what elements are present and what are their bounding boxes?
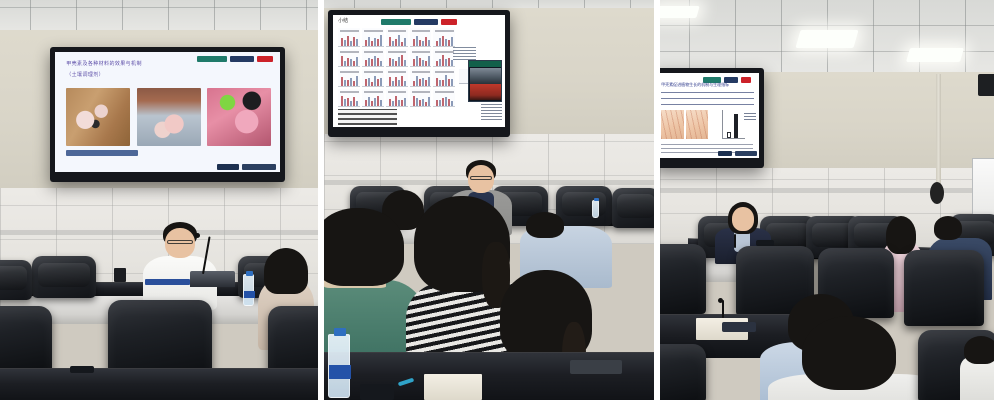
attendee-pink-hair (886, 216, 916, 254)
panel-right: 甲壳素促进植物生长的机制与生理指标 (660, 0, 994, 400)
slide-title-right: 甲壳素促进植物生长的机制与生理指标 (661, 81, 753, 90)
presenter-glasses (167, 240, 193, 244)
mini-bar-chart (338, 49, 360, 67)
display-screen: 甲壳素及各种材料的效果与机制 （土壤调理剂） (55, 52, 280, 172)
far-right-front-hair (964, 336, 994, 364)
mini-bar-chart (433, 89, 455, 107)
video-tile-1 (470, 68, 501, 83)
chair-front-right-4 (904, 250, 984, 326)
video-conference-window[interactable] (468, 60, 502, 103)
mini-bar-chart (362, 69, 384, 87)
slide-footer-strip-right (718, 151, 757, 156)
mini-bar-chart (386, 49, 408, 67)
slide-chip-footer-2 (242, 164, 276, 170)
slide-paragraph-text (481, 100, 502, 120)
slide-photo-1 (66, 88, 130, 146)
chair-front-center (108, 300, 212, 378)
person-attendee-far-right-front (960, 336, 994, 400)
ceiling-light-2 (906, 48, 964, 62)
chair-front-left (0, 306, 52, 372)
bottle-cap (334, 328, 346, 336)
histology-images (661, 110, 708, 139)
wall-display: 甲壳素及各种材料的效果与机制 （土壤调理剂） (50, 47, 285, 182)
presenter-head-right (732, 207, 754, 231)
ceiling-speaker (978, 74, 994, 96)
slide-logo-strip (197, 56, 273, 62)
attendee-navy-hair (934, 216, 962, 240)
mini-bar-chart (410, 49, 432, 67)
wall-display-middle: 小结 (328, 10, 510, 137)
display-screen-middle: 小结 (333, 15, 505, 127)
slide-body-text-right (661, 92, 754, 106)
slide-title: 甲壳素及各种材料的效果与机制 (66, 60, 142, 70)
attendee-right-hair (264, 248, 308, 294)
mini-bar-chart (386, 69, 408, 87)
ceiling-light-1 (795, 30, 858, 48)
whiteboard (972, 158, 994, 220)
video-tile-2 (470, 84, 501, 100)
slide-annotation-text (453, 46, 475, 59)
chair-back-left (32, 256, 96, 298)
bar-t1 (734, 114, 737, 138)
mini-bar-chart (338, 28, 360, 46)
slide-left-badge (66, 150, 138, 156)
chair-back-far-left (0, 260, 32, 300)
bar-ck (727, 132, 730, 139)
mini-bar-chart (433, 28, 455, 46)
slide-photo-3 (207, 88, 271, 146)
microphone-head (195, 233, 200, 238)
video-conference-titlebar (469, 61, 501, 67)
bottle-label (329, 365, 351, 379)
pen-cup (114, 268, 126, 282)
microphone-stem-front (722, 300, 724, 318)
bottle-cap (594, 198, 599, 201)
slide-photo-row (66, 88, 271, 146)
chair-row-5 (612, 188, 654, 228)
notebook (424, 374, 482, 400)
slide-chip-footer-2 (735, 151, 757, 156)
panel-middle: 小结 (324, 0, 654, 400)
water-bottle (243, 274, 254, 306)
mini-bar-chart (362, 28, 384, 46)
wall-speaker-dome (930, 182, 944, 204)
presenter-glasses-middle (470, 176, 492, 180)
slide-logo-strip-middle (381, 19, 457, 25)
mini-bar-chart (386, 28, 408, 46)
mini-bar-chart (410, 28, 432, 46)
chair-front-right (268, 306, 318, 376)
slide-footer-strip (217, 164, 276, 170)
slide-chip-footer-1 (718, 151, 732, 156)
mini-bar-chart (338, 89, 360, 107)
display-screen-right: 甲壳素促进植物生长的机制与生理指标 (660, 73, 759, 158)
blue-folder (145, 279, 190, 285)
foreground-water-bottle (328, 334, 350, 398)
slide-chip-navy (414, 19, 438, 25)
slide-chip-red (441, 19, 457, 25)
slide-photo-2 (137, 88, 201, 146)
slide-chip-footer-1 (217, 164, 239, 170)
slide-chip-red (257, 56, 273, 62)
ceiling-grid (0, 0, 318, 34)
slide-chip-navy (230, 56, 254, 62)
panel-left: 甲壳素及各种材料的效果与机制 （土壤调理剂） (0, 0, 318, 400)
slide-chart-grid (338, 28, 455, 106)
mini-bar-chart (410, 69, 432, 87)
smartphone-right (570, 360, 622, 374)
mini-bar-chart (338, 69, 360, 87)
bottle-label (244, 291, 255, 298)
slide-title-middle: 小结 (338, 17, 348, 24)
foreground-table (0, 368, 318, 400)
ceiling (0, 0, 318, 34)
attendee-lightblue-hair (526, 212, 564, 238)
white-front-hair (802, 316, 896, 390)
mini-bar-chart (362, 49, 384, 67)
smartphone-foreground (360, 384, 394, 400)
western-blot-panel (338, 109, 396, 125)
chart-legend (744, 111, 756, 120)
microphone-head-front (718, 298, 723, 303)
ceiling-light-3 (660, 6, 700, 18)
mini-bar-chart (433, 49, 455, 67)
mini-bar-chart (410, 89, 432, 107)
person-attendee-white-front (778, 316, 928, 400)
mini-bar-chart (386, 89, 408, 107)
microphone-stem-right (734, 234, 736, 248)
chair-front-right-1 (660, 244, 706, 314)
bottle-cap (246, 271, 253, 276)
wall-display-right: 甲壳素促进植物生长的机制与生理指标 (660, 68, 764, 168)
histology-image-1 (661, 110, 683, 139)
slide-panel-left: 甲壳素及各种材料的效果与机制 （土壤调理剂） (55, 52, 280, 172)
slide-chip-teal (197, 56, 227, 62)
slide-bar-chart (722, 110, 744, 139)
mini-bar-chart (433, 69, 455, 87)
green-polo-hair (324, 208, 404, 286)
slide-subtitle: （土壤调理剂） (66, 71, 104, 81)
histology-image-2 (686, 110, 708, 139)
mini-bar-chart (362, 89, 384, 107)
slide-chip-teal (381, 19, 411, 25)
foreground-phone (70, 366, 94, 373)
chair-front-right-5 (660, 344, 706, 400)
laptop (190, 271, 235, 287)
photo-collage: 甲壳素及各种材料的效果与机制 （土壤调理剂） (0, 0, 1000, 400)
smartphone-right-desk (722, 322, 756, 332)
